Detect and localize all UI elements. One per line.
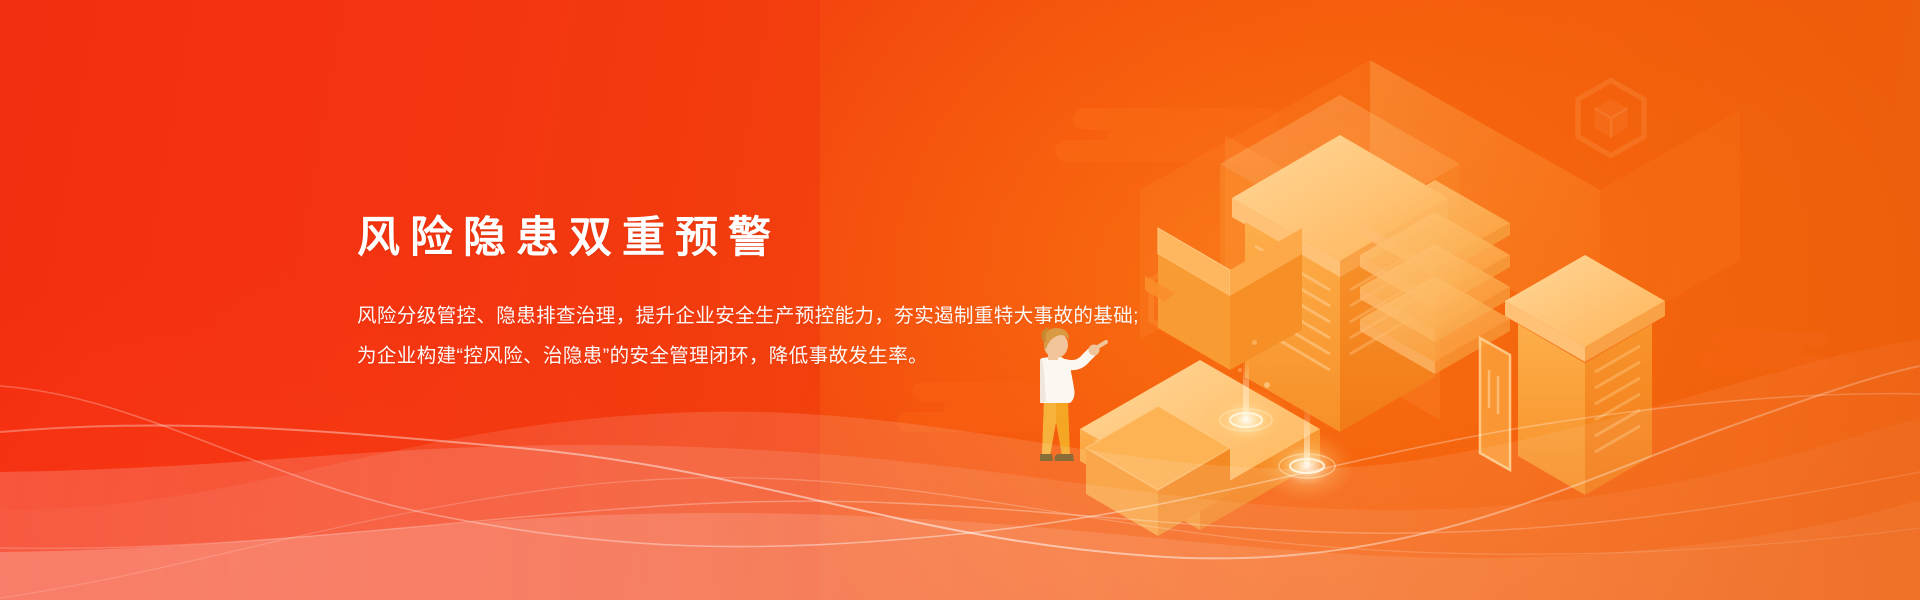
sparkle-dot-4 <box>1228 394 1232 398</box>
cloud-motif-top <box>1055 100 1315 170</box>
panel-card <box>1480 338 1510 470</box>
wave-line-2 <box>0 386 1920 547</box>
wave-band-2 <box>0 418 1920 600</box>
sparkle-dot-2 <box>1238 368 1242 372</box>
wave-band-1 <box>0 340 1920 600</box>
banner-subtitle: 风险分级管控、隐患排查治理，提升企业安全生产预控能力，夯实遏制重特大事故的基础;… <box>357 296 1197 376</box>
hero-banner: 风险隐患双重预警 风险分级管控、隐患排查治理，提升企业安全生产预控能力，夯实遏制… <box>0 0 1920 600</box>
banner-copy: 风险隐患双重预警 风险分级管控、隐患排查治理，提升企业安全生产预控能力，夯实遏制… <box>357 212 1197 376</box>
subtitle-line-2: 为企业构建“控风险、治隐患”的安全管理闭环，降低事故发生率。 <box>357 336 1197 376</box>
wave-line-1 <box>0 366 1920 558</box>
cloud-motif-mid <box>898 378 1118 440</box>
hexagon-cube-icon-1 <box>1267 175 1363 279</box>
subtitle-line-1: 风险分级管控、隐患排查治理，提升企业安全生产预控能力，夯实遏制重特大事故的基础; <box>357 296 1197 336</box>
wave-line-4 <box>0 478 1920 598</box>
lower-slab <box>1080 360 1320 530</box>
sparkle-dot-1 <box>1252 340 1257 345</box>
highlighted-box <box>1086 406 1230 536</box>
wave-band-3 <box>0 500 1920 600</box>
hexagon-cube-icon-3 <box>1575 78 1647 158</box>
central-tower <box>1232 135 1448 432</box>
glow-beam-2 <box>1259 408 1355 502</box>
stacked-plates <box>1360 180 1510 374</box>
cloud-motif-small <box>1700 330 1850 374</box>
wave-line-3 <box>0 472 1920 548</box>
glow-beam-1 <box>1200 360 1292 454</box>
background-tower <box>1220 95 1460 370</box>
page-title: 风险隐患双重预警 <box>357 212 1197 266</box>
right-tower <box>1505 255 1665 495</box>
ghost-blocks <box>1140 60 1740 420</box>
sparkle-dot-3 <box>1264 382 1270 388</box>
